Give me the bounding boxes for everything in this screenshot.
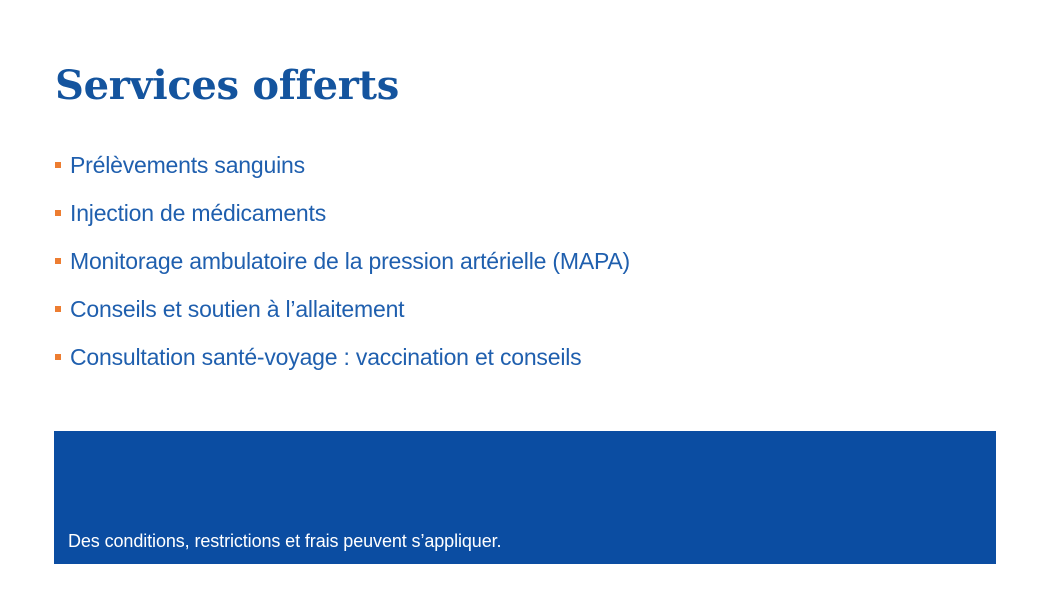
list-item: Conseils et soutien à l’allaitement: [54, 285, 954, 333]
square-bullet-icon: [55, 306, 61, 312]
list-item: Monitorage ambulatoire de la pression ar…: [54, 237, 954, 285]
list-item-label: Consultation santé-voyage : vaccination …: [70, 344, 581, 370]
page-title: Services offerts: [55, 62, 399, 110]
list-item-label: Injection de médicaments: [70, 200, 326, 226]
square-bullet-icon: [55, 354, 61, 360]
footer-disclaimer-text: Des conditions, restrictions et frais pe…: [68, 531, 501, 552]
square-bullet-icon: [55, 258, 61, 264]
slide-canvas: Services offerts Prélèvements sanguins I…: [0, 0, 1050, 600]
services-list: Prélèvements sanguins Injection de médic…: [54, 141, 954, 381]
square-bullet-icon: [55, 162, 61, 168]
list-item: Consultation santé-voyage : vaccination …: [54, 333, 954, 381]
list-item-label: Monitorage ambulatoire de la pression ar…: [70, 248, 630, 274]
list-item-label: Conseils et soutien à l’allaitement: [70, 296, 404, 322]
list-item: Prélèvements sanguins: [54, 141, 954, 189]
square-bullet-icon: [55, 210, 61, 216]
list-item-label: Prélèvements sanguins: [70, 152, 305, 178]
list-item: Injection de médicaments: [54, 189, 954, 237]
footer-banner: Des conditions, restrictions et frais pe…: [54, 431, 996, 564]
